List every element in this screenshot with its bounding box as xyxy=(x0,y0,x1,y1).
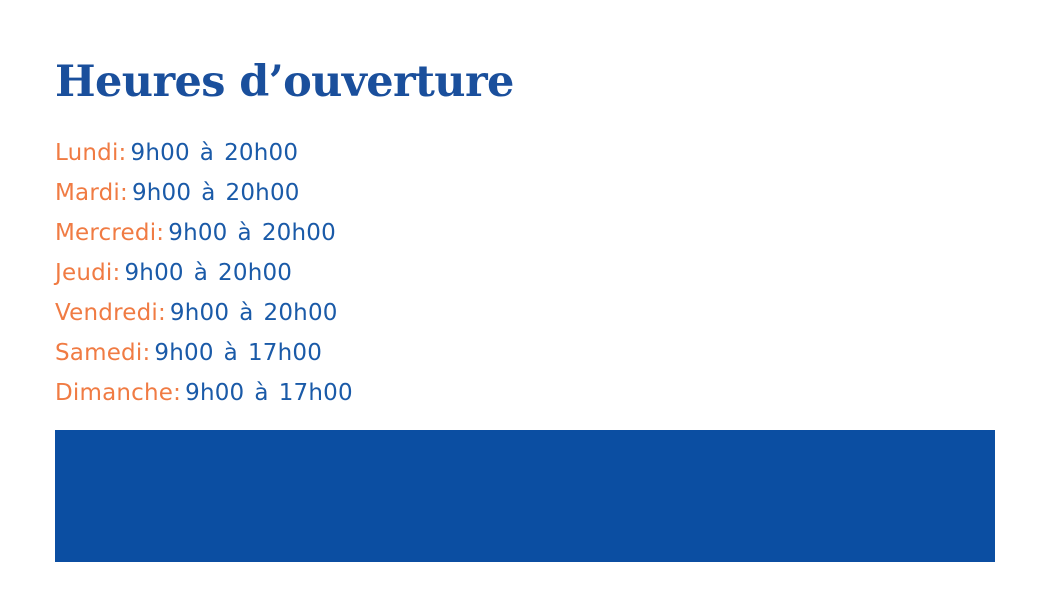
day-label: Vendredi: xyxy=(55,300,166,326)
close-time: 20h00 xyxy=(264,300,338,326)
list-item: Vendredi:9h00à20h00 xyxy=(55,293,655,333)
time-separator: à xyxy=(232,213,258,253)
open-time: 9h00 xyxy=(185,380,244,406)
list-item: Mercredi:9h00à20h00 xyxy=(55,213,655,253)
slide-canvas: Heures d’ouverture Lundi:9h00à20h00 Mard… xyxy=(0,0,1050,600)
close-time: 17h00 xyxy=(279,380,353,406)
open-time: 9h00 xyxy=(124,260,183,286)
list-item: Samedi:9h00à17h00 xyxy=(55,333,655,373)
close-time: 20h00 xyxy=(262,220,336,246)
time-separator: à xyxy=(188,253,214,293)
close-time: 20h00 xyxy=(218,260,292,286)
list-item: Mardi:9h00à20h00 xyxy=(55,173,655,213)
day-label: Lundi: xyxy=(55,140,127,166)
open-time: 9h00 xyxy=(170,300,229,326)
time-separator: à xyxy=(194,133,220,173)
open-time: 9h00 xyxy=(132,180,191,206)
time-separator: à xyxy=(195,173,221,213)
day-label: Mercredi: xyxy=(55,220,164,246)
open-time: 9h00 xyxy=(131,140,190,166)
close-time: 20h00 xyxy=(226,180,300,206)
time-separator: à xyxy=(248,373,274,413)
day-label: Dimanche: xyxy=(55,380,181,406)
day-label: Mardi: xyxy=(55,180,128,206)
list-item: Lundi:9h00à20h00 xyxy=(55,133,655,173)
open-time: 9h00 xyxy=(168,220,227,246)
time-separator: à xyxy=(218,333,244,373)
close-time: 20h00 xyxy=(224,140,298,166)
day-label: Samedi: xyxy=(55,340,150,366)
page-title: Heures d’ouverture xyxy=(55,58,514,107)
close-time: 17h00 xyxy=(248,340,322,366)
list-item: Jeudi:9h00à20h00 xyxy=(55,253,655,293)
time-separator: à xyxy=(233,293,259,333)
day-label: Jeudi: xyxy=(55,260,120,286)
list-item: Dimanche:9h00à17h00 xyxy=(55,373,655,413)
open-time: 9h00 xyxy=(154,340,213,366)
opening-hours-list: Lundi:9h00à20h00 Mardi:9h00à20h00 Mercre… xyxy=(55,133,655,413)
content-placeholder-bar xyxy=(55,430,995,562)
